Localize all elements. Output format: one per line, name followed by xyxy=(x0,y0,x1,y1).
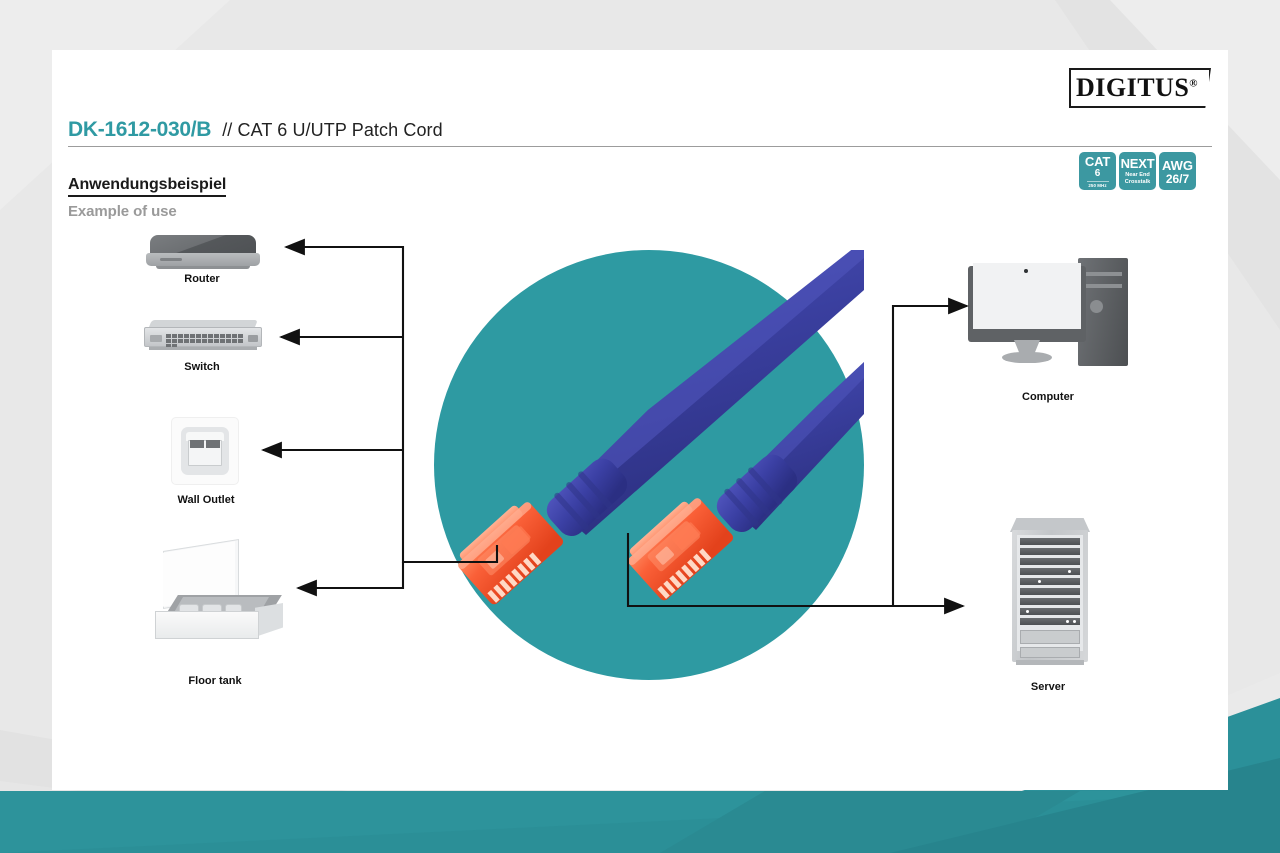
arrow-to-floor-tank xyxy=(298,562,403,588)
slide-canvas: DIGITUS® DK-1612-030/B // CAT 6 U/UTP Pa… xyxy=(0,0,1280,853)
connection-arrows xyxy=(0,0,1280,853)
arrow-to-router xyxy=(286,247,497,562)
arrow-to-computer xyxy=(628,306,967,606)
